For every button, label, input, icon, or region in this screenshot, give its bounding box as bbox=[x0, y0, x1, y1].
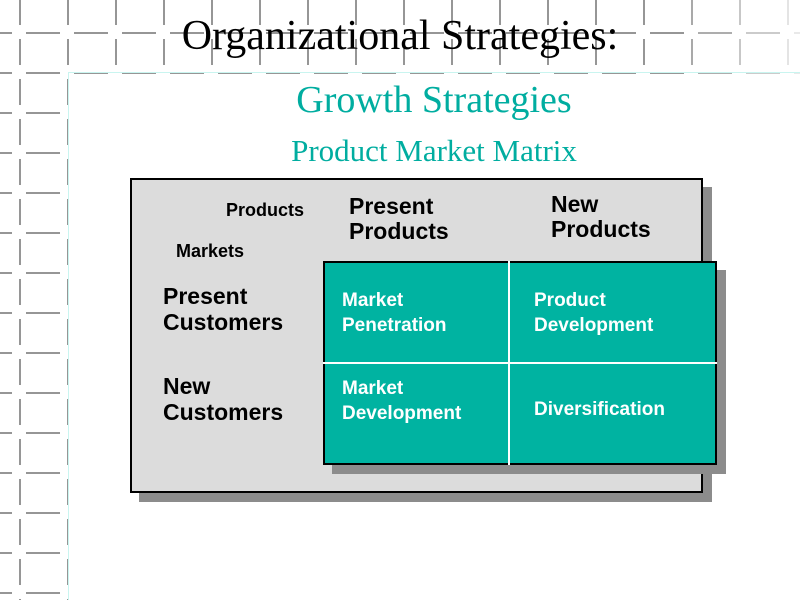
grid-horizontal-segment bbox=[26, 592, 60, 594]
grid-horizontal-segment bbox=[26, 72, 60, 74]
slide-canvas: Organizational Strategies: Growth Strate… bbox=[0, 0, 800, 600]
grid-horizontal-segment bbox=[0, 272, 12, 274]
row-header-line1: New bbox=[163, 373, 283, 399]
grid-vertical-segment bbox=[19, 359, 21, 385]
grid-vertical-segment bbox=[19, 519, 21, 545]
grid-horizontal-segment bbox=[26, 392, 60, 394]
grid-horizontal-segment bbox=[26, 312, 60, 314]
grid-horizontal-segment bbox=[0, 592, 12, 594]
grid-horizontal-segment bbox=[26, 72, 60, 74]
page-title: Organizational Strategies: bbox=[0, 12, 800, 60]
axis-label-products: Products bbox=[226, 200, 304, 221]
grid-horizontal-segment bbox=[26, 152, 60, 154]
matrix-cell-market-development: Market Development bbox=[342, 376, 461, 426]
matrix-cell-product-development: Product Development bbox=[534, 288, 653, 338]
grid-vertical-segment bbox=[19, 79, 21, 105]
grid-horizontal-segment bbox=[0, 312, 12, 314]
grid-vertical-segment bbox=[19, 439, 21, 465]
grid-vertical-segment bbox=[19, 319, 21, 345]
cell-line1: Market bbox=[342, 288, 447, 313]
grid-left-band bbox=[0, 0, 70, 600]
grid-horizontal-segment bbox=[26, 512, 60, 514]
row-header-present-customers: Present Customers bbox=[163, 283, 283, 335]
cell-line2: Development bbox=[342, 401, 461, 426]
row-header-line2: Customers bbox=[163, 309, 283, 335]
grid-horizontal-segment bbox=[0, 512, 12, 514]
grid-horizontal-segment bbox=[26, 272, 60, 274]
grid-horizontal-segment bbox=[26, 112, 60, 114]
grid-horizontal-segment bbox=[26, 432, 60, 434]
subtitle-product-market-matrix: Product Market Matrix bbox=[68, 133, 800, 169]
grid-horizontal-segment bbox=[26, 232, 60, 234]
frame-horizontal-line bbox=[68, 72, 800, 73]
grid-vertical-segment bbox=[19, 399, 21, 425]
grid-horizontal-segment bbox=[26, 552, 60, 554]
grid-horizontal-segment bbox=[26, 192, 60, 194]
grid-horizontal-segment bbox=[26, 472, 60, 474]
matrix-horizontal-divider bbox=[323, 362, 717, 364]
grid-vertical-segment bbox=[19, 279, 21, 305]
grid-horizontal-segment bbox=[26, 352, 60, 354]
grid-horizontal-segment bbox=[0, 552, 12, 554]
matrix-cell-market-penetration: Market Penetration bbox=[342, 288, 447, 338]
row-header-line1: Present bbox=[163, 283, 283, 309]
column-header-line1: Present bbox=[349, 194, 449, 219]
axis-label-markets: Markets bbox=[176, 241, 244, 262]
row-header-line2: Customers bbox=[163, 399, 283, 425]
matrix-cell-diversification: Diversification bbox=[534, 397, 665, 422]
grid-horizontal-segment bbox=[0, 192, 12, 194]
column-header-present-products: Present Products bbox=[349, 194, 449, 244]
cell-line2: Development bbox=[534, 313, 653, 338]
subtitle-growth-strategies: Growth Strategies bbox=[68, 78, 800, 122]
cell-line1: Diversification bbox=[534, 397, 665, 422]
cell-line1: Market bbox=[342, 376, 461, 401]
grid-vertical-segment bbox=[19, 159, 21, 185]
grid-horizontal-segment bbox=[0, 432, 12, 434]
grid-vertical-segment bbox=[19, 479, 21, 505]
grid-vertical-segment bbox=[19, 199, 21, 225]
column-header-new-products: New Products bbox=[551, 192, 651, 242]
grid-horizontal-segment bbox=[0, 112, 12, 114]
grid-horizontal-segment bbox=[0, 352, 12, 354]
grid-vertical-segment bbox=[19, 239, 21, 265]
grid-vertical-segment bbox=[19, 119, 21, 145]
grid-horizontal-segment bbox=[0, 72, 12, 74]
row-header-new-customers: New Customers bbox=[163, 373, 283, 425]
cell-line1: Product bbox=[534, 288, 653, 313]
grid-horizontal-segment bbox=[0, 472, 12, 474]
grid-horizontal-segment bbox=[0, 392, 12, 394]
grid-horizontal-segment bbox=[0, 232, 12, 234]
column-header-line2: Products bbox=[551, 217, 651, 242]
grid-horizontal-segment bbox=[0, 72, 12, 74]
column-header-line1: New bbox=[551, 192, 651, 217]
grid-vertical-segment bbox=[19, 559, 21, 585]
column-header-line2: Products bbox=[349, 219, 449, 244]
cell-line2: Penetration bbox=[342, 313, 447, 338]
grid-horizontal-segment bbox=[0, 152, 12, 154]
